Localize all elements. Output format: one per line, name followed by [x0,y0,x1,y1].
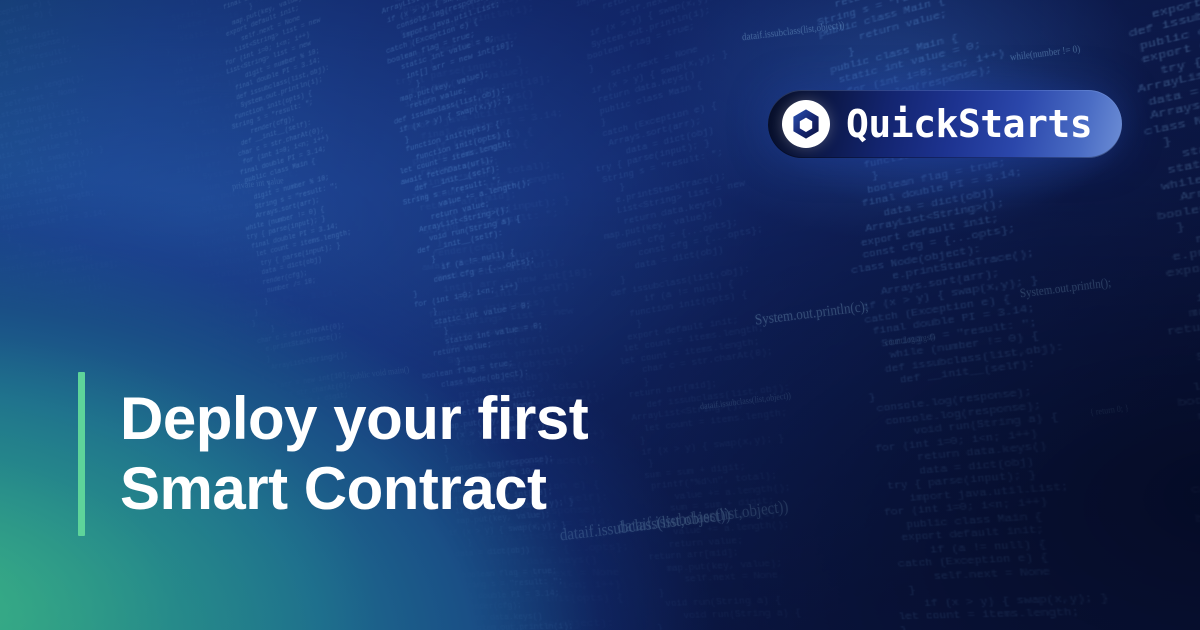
headline-accent-bar [78,372,85,536]
quickstarts-badge: QuickStarts [768,90,1122,158]
headline-line-2: Smart Contract [120,454,760,524]
banner-canvas: map.put(key, value); e.printStackTrace()… [0,0,1200,630]
chainlink-hexagon-icon [782,100,830,148]
headline-line-1: Deploy your first [120,384,760,454]
page-title: Deploy your first Smart Contract [120,384,760,523]
badge-label: QuickStarts [846,105,1092,143]
